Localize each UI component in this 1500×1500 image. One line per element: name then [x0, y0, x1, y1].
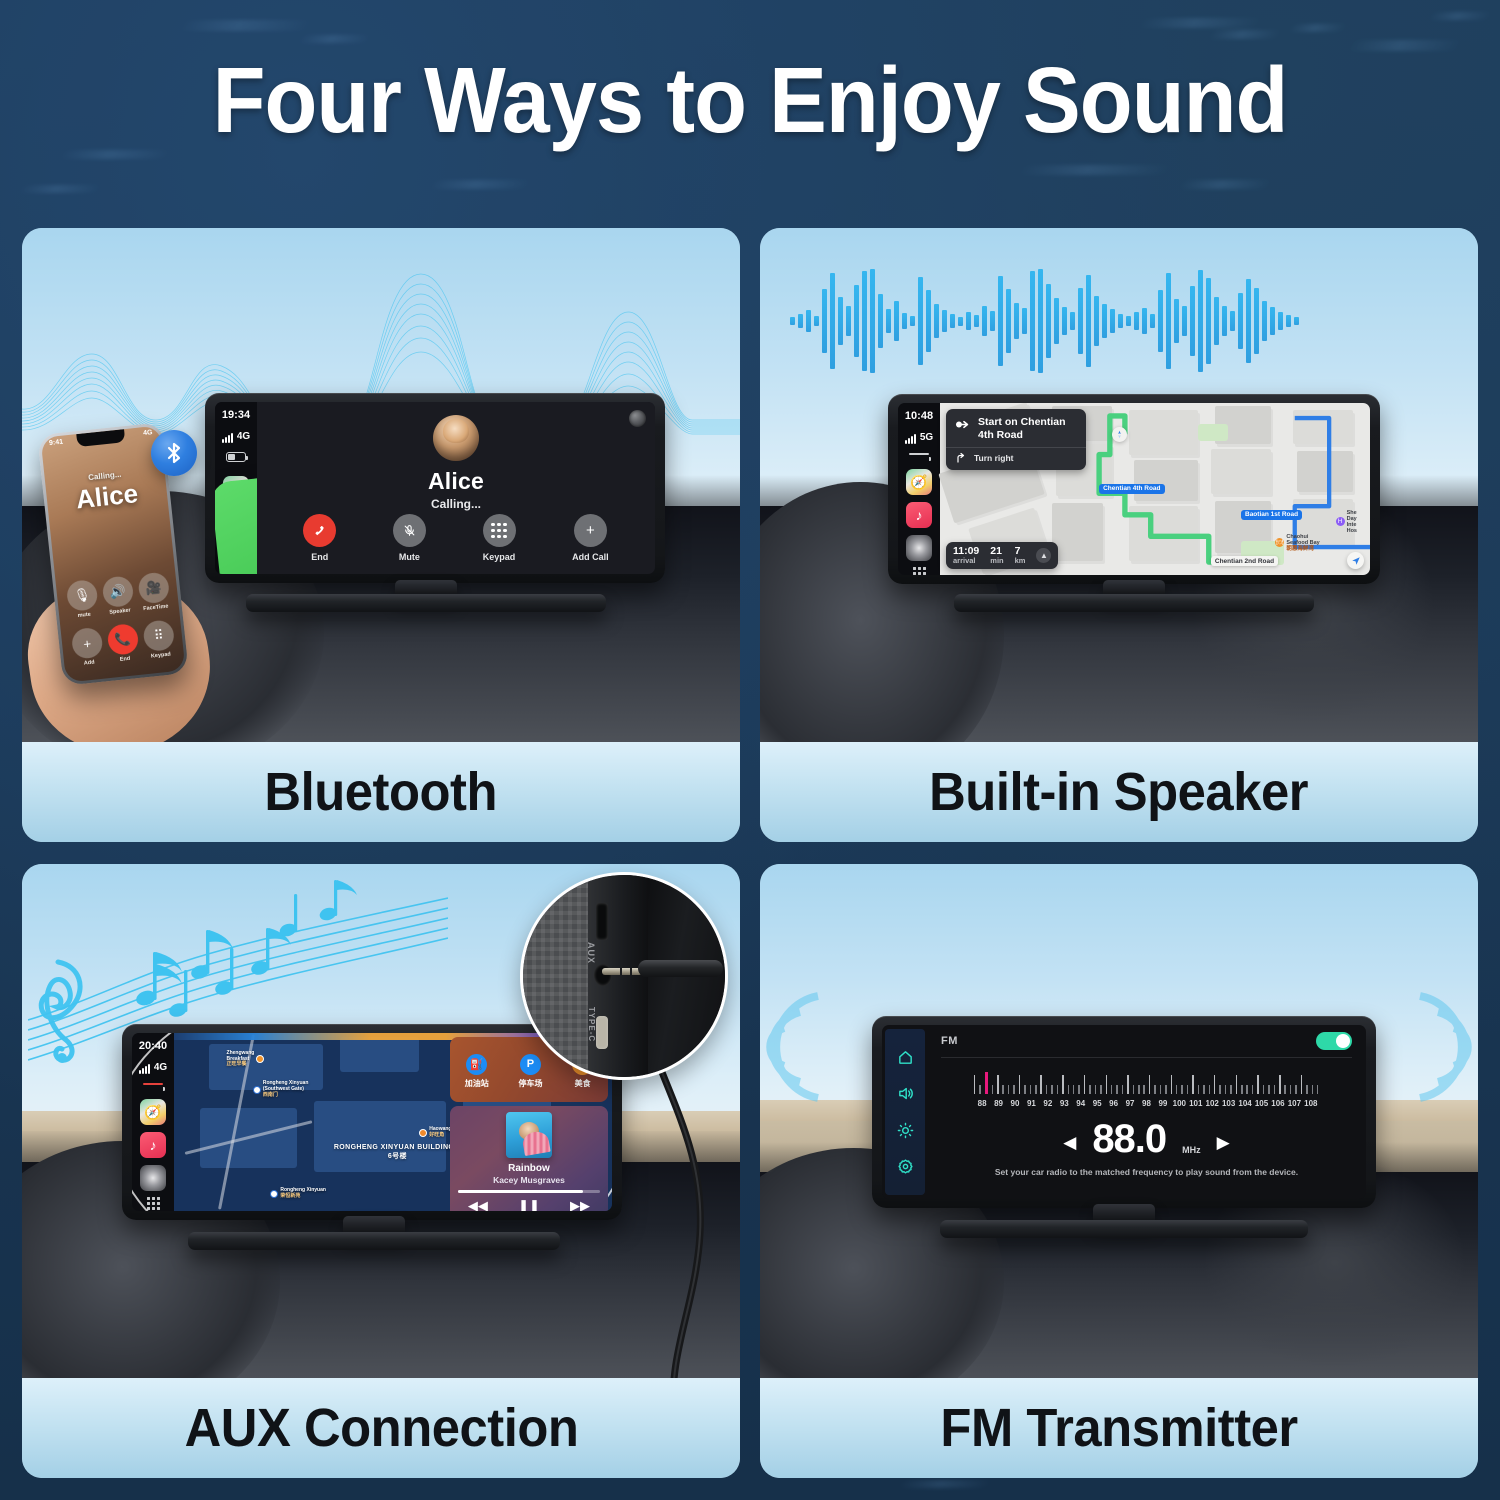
bluetooth-icon: [162, 441, 186, 465]
fm-tick-label: 98: [1138, 1099, 1154, 1108]
track-title: Rainbow: [508, 1163, 550, 1174]
phone-end-label: End: [120, 656, 131, 663]
fm-tick-label: 95: [1089, 1099, 1105, 1108]
fm-tick-label: 107: [1286, 1099, 1302, 1108]
battery-icon: [909, 453, 929, 455]
aux-port-magnifier: AUX TYPE-C: [520, 872, 728, 1080]
mute-label: Mute: [399, 552, 420, 562]
poi-marker[interactable]: ZhengwangBreakfast正旺早餐: [227, 1051, 265, 1068]
caption-bluetooth-label: Bluetooth: [265, 761, 498, 823]
add-call-icon: +: [71, 627, 104, 660]
fm-frequency-unit: MHz: [1182, 1145, 1201, 1155]
aux-jack-connector: [638, 960, 723, 977]
fm-tick-label: 92: [1040, 1099, 1056, 1108]
fm-mode-label: FM: [941, 1035, 958, 1047]
avatar: [433, 415, 479, 461]
brightness-icon[interactable]: [897, 1122, 914, 1139]
speaker-icon: 🔊: [101, 575, 134, 608]
audio-waveform-graphic: [790, 266, 1299, 376]
poi-marker[interactable]: Rongheng Xinyuan(Southwest Gate)西南门: [253, 1081, 309, 1098]
device-bezel: 10:48 5G 🧭 ♪: [888, 394, 1380, 584]
poi-marker[interactable]: 🍽 ChaohuiSeafood Bay朝惠海鲜湾: [1275, 534, 1319, 552]
end-call-icon: 📞: [106, 623, 139, 656]
jack-tip: [602, 968, 642, 975]
pause-icon[interactable]: ❚❚: [518, 1198, 540, 1211]
fm-tick-label: 96: [1105, 1099, 1121, 1108]
phone-facetime-label: FaceTime: [143, 604, 169, 613]
keypad-label: Keypad: [483, 552, 516, 562]
phone-mute-button[interactable]: 🎙mute: [66, 579, 100, 620]
turn-right-icon: [954, 416, 971, 433]
status-network: 4G: [237, 431, 250, 444]
call-controls: End Mute: [257, 514, 655, 562]
device-stand-base: [940, 1220, 1308, 1238]
music-icon[interactable]: ♪: [906, 502, 932, 528]
poi-marker[interactable]: H SheDayInteHos: [1336, 510, 1357, 534]
battery-icon: [226, 452, 246, 462]
fm-frequency-scale[interactable]: 88 89 90 91 92 93 94 95 96 97: [974, 1072, 1319, 1108]
map-place-name-cn: 6号楼: [388, 1153, 407, 1160]
fm-tick-label: 106: [1270, 1099, 1286, 1108]
current-location-marker: [1112, 427, 1127, 442]
fm-tick-label: 108: [1303, 1099, 1319, 1108]
status-time: 10:48: [905, 410, 933, 424]
status-time: 19:34: [222, 409, 250, 423]
typec-port: [596, 1016, 608, 1048]
mic-off-icon: [393, 514, 426, 547]
carplay-device: 10:48 5G 🧭 ♪: [888, 394, 1380, 584]
end-call-button[interactable]: End: [303, 514, 336, 562]
eta-bar[interactable]: 11:09arrival 21min 7km ▲: [946, 542, 1058, 570]
device-screen: 10:48 5G 🧭 ♪: [898, 403, 1370, 575]
device-stand-base: [246, 594, 606, 612]
page-title: Four Ways to Enjoy Sound: [53, 52, 1448, 150]
phone-end-button[interactable]: 📞End: [106, 623, 140, 664]
fm-device: FM: [872, 1016, 1376, 1208]
fm-tick-label: 97: [1122, 1099, 1138, 1108]
status-signal: 4G: [222, 429, 250, 444]
carplay-device: 19:34 4G 🧭 ♪ 📞: [205, 393, 665, 583]
phone-add-label: Add: [84, 660, 95, 667]
typec-label: TYPE-C: [587, 1007, 596, 1042]
map-place-name: RONGHENG XINYUAN BUILDING 6: [334, 1144, 461, 1151]
caption-fm-transmitter: FM Transmitter: [760, 1378, 1478, 1478]
speaker-mesh: [523, 875, 592, 1077]
fm-tick-label: 100: [1171, 1099, 1187, 1108]
phone-speaker-label: Speaker: [109, 607, 131, 615]
phone-speaker-button[interactable]: 🔊Speaker: [101, 575, 135, 616]
poi-marker[interactable]: Rongheng Xinyuan荣恒新苑: [270, 1188, 326, 1200]
fm-tick-label: 99: [1155, 1099, 1171, 1108]
call-contact-name: Alice: [428, 468, 484, 495]
end-call-label: End: [311, 552, 328, 562]
fm-tick-label: 89: [990, 1099, 1006, 1108]
phone-facetime-button[interactable]: 🎥FaceTime: [137, 571, 171, 612]
caption-aux-connection-label: AUX Connection: [184, 1397, 578, 1459]
carplay-dock: [913, 567, 926, 575]
panel-bluetooth: 19:34 4G 🧭 ♪ 📞: [22, 228, 740, 842]
eta-duration-unit: min: [990, 556, 1003, 565]
end-call-icon: [303, 514, 336, 547]
phone-mute-label: mute: [77, 612, 91, 619]
fm-help-text: Set your car radio to the matched freque…: [941, 1167, 1352, 1177]
home-icon[interactable]: [897, 1049, 914, 1066]
device-stand-base: [188, 1232, 560, 1250]
feature-grid: 19:34 4G 🧭 ♪ 📞: [22, 228, 1478, 1478]
mute-button[interactable]: Mute: [393, 514, 426, 562]
fm-tick-label: 90: [1007, 1099, 1023, 1108]
navigation-screen: Chentian 4th Road Baotian 1st Road Chent…: [940, 403, 1370, 575]
arrow-left-icon[interactable]: ◀: [1063, 1134, 1076, 1151]
phone-status-time: 9:41: [49, 439, 64, 447]
keypad-button[interactable]: Keypad: [483, 514, 516, 562]
fm-scale-ticks: [974, 1072, 1319, 1094]
call-status-text: Calling...: [431, 497, 481, 511]
fm-header: FM: [941, 1032, 1352, 1058]
panel-bluetooth-scene: 19:34 4G 🧭 ♪ 📞: [22, 228, 740, 742]
eta-arrival-unit: arrival: [953, 556, 979, 565]
mic-off-icon: 🎙: [66, 579, 99, 612]
now-playing-card: Rainbow Kacey Musgraves ◀◀ ❚❚ ▶▶: [450, 1106, 608, 1211]
navigation-instruction-card: Start on Chentian 4th Road Turn right: [946, 409, 1086, 470]
road-label: Chentian 4th Road: [1099, 484, 1164, 494]
fm-tick-label: 101: [1188, 1099, 1204, 1108]
add-call-button[interactable]: + Add Call: [572, 514, 609, 562]
phone-notch: [76, 429, 125, 447]
poi-shortcut-food-label: 美食: [575, 1078, 591, 1089]
turn-right-icon: [954, 452, 966, 464]
progress-bar[interactable]: [458, 1190, 600, 1194]
fm-screen: FM: [925, 1025, 1366, 1199]
poi-shortcut-parking-label: 停车场: [518, 1078, 542, 1089]
compass-button[interactable]: [1347, 552, 1364, 569]
chevron-up-icon[interactable]: ▲: [1036, 548, 1051, 563]
phone-add-button[interactable]: +Add: [71, 627, 105, 668]
panel-fm-transmitter: FM: [760, 864, 1478, 1478]
panel-aux-connection: 20:40 4G 🧭 ♪: [22, 864, 740, 1478]
fm-tick-label: 88: [974, 1099, 990, 1108]
device-stand-base: [954, 594, 1314, 612]
volume-icon[interactable]: [897, 1085, 914, 1102]
device-bezel: FM: [872, 1016, 1376, 1208]
poi-shortcut-gas-label: 加油站: [465, 1078, 489, 1089]
status-signal: 5G: [905, 430, 933, 445]
map-place-label: RONGHENG XINYUAN BUILDING 6 6号楼: [332, 1143, 463, 1161]
fm-frequency-value: 88.0: [1092, 1119, 1166, 1159]
fm-toggle[interactable]: [1316, 1032, 1352, 1050]
device-screen: 19:34 4G 🧭 ♪ 📞: [215, 402, 655, 574]
phone-keypad-button[interactable]: ⠿Keypad: [142, 619, 176, 660]
fm-current-indicator: [985, 1072, 988, 1094]
carplay-sidebar: 19:34 4G 🧭 ♪ 📞: [215, 402, 257, 574]
navigation-next-step: Turn right: [974, 453, 1014, 463]
eta-distance-unit: km: [1015, 556, 1026, 565]
next-icon[interactable]: ▶▶: [570, 1198, 590, 1211]
track-artist: Kacey Musgraves: [493, 1175, 565, 1185]
eta-duration-value: 21: [990, 546, 1003, 557]
siri-icon[interactable]: [906, 535, 932, 561]
album-art: [506, 1112, 552, 1158]
device-bezel: 19:34 4G 🧭 ♪ 📞: [205, 393, 665, 583]
fm-tick-label: 105: [1253, 1099, 1269, 1108]
caption-aux-connection: AUX Connection: [22, 1378, 740, 1478]
previous-icon[interactable]: ◀◀: [468, 1198, 488, 1211]
fm-tick-label: 104: [1237, 1099, 1253, 1108]
app-grid-icon[interactable]: [913, 567, 926, 575]
fm-sidebar: [885, 1029, 925, 1195]
aux-label: AUX: [586, 942, 596, 964]
phone-status-network: 4G: [143, 429, 153, 437]
caption-builtin-speaker-label: Built-in Speaker: [930, 761, 1309, 823]
status-network: 5G: [920, 432, 933, 445]
caption-fm-transmitter-label: FM Transmitter: [940, 1397, 1297, 1459]
fm-tick-label: 93: [1056, 1099, 1072, 1108]
fm-tick-label: 91: [1023, 1099, 1039, 1108]
carplay-app-list: 🧭 ♪ 📞: [223, 476, 249, 535]
signal-icon: 5G: [905, 432, 933, 445]
fm-tick-label: 103: [1220, 1099, 1236, 1108]
road-label: Chentian 2nd Road: [1211, 556, 1278, 566]
signal-icon: 4G: [222, 431, 250, 444]
fm-scale-numbers: 88 89 90 91 92 93 94 95 96 97: [974, 1099, 1319, 1108]
bluetooth-badge: [151, 430, 197, 476]
carplay-sidebar: 10:48 5G 🧭 ♪: [898, 403, 940, 575]
fm-tick-label: 94: [1073, 1099, 1089, 1108]
phone-call-controls: 🎙mute 🔊Speaker 🎥FaceTime +Add 📞End ⠿Keyp…: [66, 572, 174, 668]
panel-speaker-scene: 10:48 5G 🧭 ♪: [760, 228, 1478, 742]
call-screen: Alice Calling... End: [257, 402, 655, 574]
keypad-icon: [483, 514, 516, 547]
transport-controls: ◀◀ ❚❚ ▶▶: [468, 1198, 590, 1211]
fm-tick-label: 102: [1204, 1099, 1220, 1108]
plus-icon: +: [574, 514, 607, 547]
caption-builtin-speaker: Built-in Speaker: [760, 742, 1478, 842]
phone-keypad-label: Keypad: [151, 652, 171, 660]
navigation-instruction: Start on Chentian 4th Road: [978, 416, 1078, 441]
keypad-icon: ⠿: [142, 619, 175, 652]
fm-frequency-row: ◀ 88.0 MHz ▶: [941, 1119, 1352, 1159]
panel-fm-scene: FM: [760, 864, 1478, 1378]
arrow-right-icon[interactable]: ▶: [1217, 1134, 1230, 1151]
maps-icon[interactable]: 🧭: [906, 469, 932, 495]
gas-station-icon: ⛽: [466, 1054, 487, 1075]
panel-aux-scene: 20:40 4G 🧭 ♪: [22, 864, 740, 1378]
device-screen: FM: [882, 1025, 1366, 1199]
add-call-label: Add Call: [572, 552, 609, 562]
video-icon: 🎥: [137, 571, 170, 604]
eta-arrival-value: 11:09: [953, 546, 979, 557]
caption-bluetooth: Bluetooth: [22, 742, 740, 842]
eta-distance-value: 7: [1015, 546, 1026, 557]
card-slot: [596, 903, 608, 939]
settings-icon[interactable]: [897, 1158, 914, 1175]
road-label: Baotian 1st Road: [1241, 510, 1302, 520]
carplay-app-list: 🧭 ♪: [906, 469, 932, 561]
poi-shortcut-gas[interactable]: ⛽ 加油站: [465, 1054, 489, 1089]
panel-builtin-speaker: 10:48 5G 🧭 ♪: [760, 228, 1478, 842]
